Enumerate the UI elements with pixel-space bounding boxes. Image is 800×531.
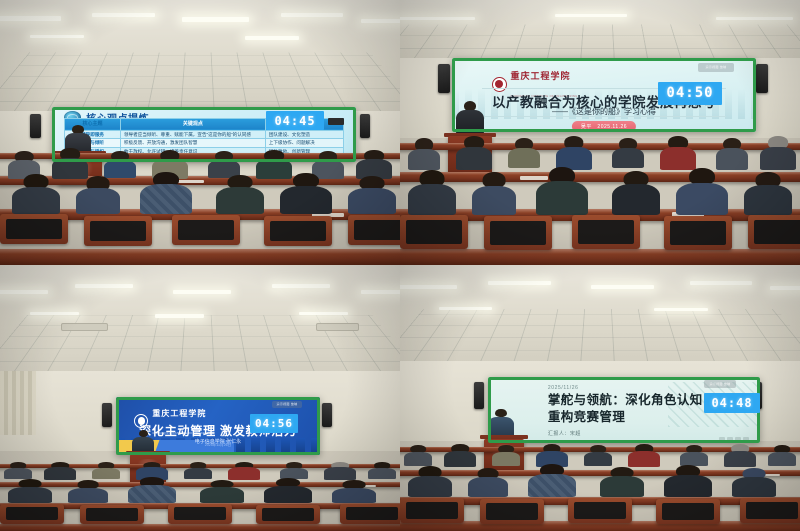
attendee <box>680 445 708 466</box>
attendee <box>760 136 796 169</box>
slide-view-chip: 演示视图 放映 <box>272 401 302 408</box>
ceiling-lamp <box>361 19 400 24</box>
desk-row <box>0 249 400 265</box>
attendee <box>612 138 644 168</box>
presenter <box>456 101 484 135</box>
attendee <box>508 138 540 168</box>
slide-date-badge: 吴平 2025.11.26 <box>572 121 636 132</box>
ceiling-lamp <box>30 35 84 38</box>
collage-panel-bottom-right: 2025/11/26 掌舵与领航：深化角色认知，重构竞赛管理 汇报人：宋超 演示… <box>400 265 800 531</box>
ceiling-vent <box>316 323 358 331</box>
logo-name: 重庆工程学院 <box>152 409 206 418</box>
attendee <box>676 168 728 214</box>
ceiling-lamp <box>92 13 155 17</box>
photo-collage: 核心观点提炼 核心主题 关键观点 适用场景 领导即服务 领导者应当倾听、尊重、赋… <box>0 0 800 531</box>
logo-name: 重庆工程学院 <box>511 71 571 81</box>
ceiling-lamp <box>555 14 627 17</box>
ceiling-lamp <box>30 312 79 315</box>
wall-speaker-icon <box>474 382 484 409</box>
ceiling-lamp <box>591 285 654 289</box>
countdown-timer: 04:45 <box>266 111 324 130</box>
audience <box>0 148 400 265</box>
attendee <box>4 462 32 478</box>
table-col-header: 关键观点 <box>120 118 265 130</box>
attendee <box>228 462 260 480</box>
attendee <box>612 171 660 215</box>
chair <box>84 216 152 246</box>
slide-title: 掌舵与领航：深化角色认知，重构竞赛管理 <box>548 392 722 425</box>
attendee <box>456 136 492 169</box>
attendee <box>68 480 108 503</box>
chair <box>0 214 68 244</box>
attendee <box>468 468 508 498</box>
attendee <box>408 138 440 170</box>
collage-panel-bottom-left: 重庆工程学院 CHONGQING INSTITUTE OF ENGINEERIN… <box>0 265 400 531</box>
ceiling-lamp <box>770 286 800 290</box>
logo-mark-icon <box>492 77 507 92</box>
chair <box>656 499 720 524</box>
attendee <box>628 444 660 467</box>
chair <box>748 215 800 249</box>
wall-speaker-icon <box>102 403 112 427</box>
desk-row <box>400 249 800 265</box>
chair <box>400 498 464 523</box>
audience <box>0 457 400 531</box>
attendee <box>724 444 756 467</box>
attendee <box>716 138 748 170</box>
attendee <box>768 445 796 466</box>
ceiling-lamp <box>299 312 348 315</box>
ceiling-vent <box>61 323 108 331</box>
wall-speaker-icon <box>438 64 450 93</box>
ceiling-lamp <box>0 290 48 294</box>
attendee <box>184 462 212 478</box>
chair <box>484 216 552 250</box>
chair <box>172 215 240 245</box>
collage-panel-top-right: 重庆工程学院 CHONGQING INSTITUTE OF ENGINEERIN… <box>400 0 800 265</box>
attendee <box>356 150 392 179</box>
attendee <box>324 462 356 480</box>
attendee <box>444 444 476 467</box>
ceiling-lamp <box>361 290 400 294</box>
chair <box>664 216 732 250</box>
attendee <box>200 480 244 504</box>
chair <box>80 505 144 524</box>
ceiling-lamp <box>400 17 475 21</box>
ceiling <box>400 265 800 366</box>
ceiling <box>400 0 800 64</box>
countdown-timer: 04:50 <box>658 82 722 105</box>
audience <box>400 435 800 531</box>
attendee <box>348 176 396 213</box>
attendee <box>584 445 612 466</box>
ceiling <box>0 265 400 377</box>
attendee <box>472 172 516 214</box>
chair <box>0 504 64 523</box>
attendee <box>216 175 264 213</box>
attendee <box>208 151 240 178</box>
ceiling-lamp <box>716 17 792 21</box>
attendee <box>104 151 136 178</box>
ceiling-lamp <box>155 314 204 317</box>
ceiling-lamp <box>173 290 231 294</box>
ceiling-tile-grid <box>400 309 800 366</box>
ceiling-lamp <box>488 281 551 284</box>
wall-speaker-icon <box>322 403 332 427</box>
table-row: 沟通与倾听 积极反馈、开放沟通，激发团队智慧 上下级协作、问题解决 <box>65 139 344 148</box>
ceiling-lamp <box>182 17 249 22</box>
ceiling-lamp <box>281 13 344 17</box>
attendee <box>600 467 644 498</box>
desk-row <box>400 172 800 181</box>
slide-view-chip: 演示视图 放映 <box>698 63 734 72</box>
audience <box>400 133 800 266</box>
attendee <box>732 468 776 498</box>
desk-row <box>0 524 400 531</box>
wall-speaker-icon <box>360 114 370 138</box>
slide-date: 2025/11/26 <box>548 385 579 391</box>
slide-subtitle: ——《这是你的船》学习心得 <box>470 106 738 117</box>
ceiling <box>0 0 400 117</box>
attendee <box>664 465 712 498</box>
ceiling-lamp <box>0 16 61 21</box>
attendee <box>264 478 312 503</box>
attendee <box>660 136 696 169</box>
chair <box>480 499 544 524</box>
chair <box>340 504 400 523</box>
chair <box>568 498 632 523</box>
chair <box>740 498 800 523</box>
attendee <box>408 466 452 498</box>
attendee <box>528 464 576 498</box>
attendee <box>44 462 76 480</box>
countdown-timer: 04:56 <box>250 414 298 433</box>
attendee <box>408 170 456 215</box>
slide-view-chip: 演示视图 放映 <box>704 380 736 388</box>
attendee <box>12 174 60 214</box>
attendee <box>536 167 588 215</box>
attendee <box>128 477 176 503</box>
chair <box>264 216 332 246</box>
presenter <box>488 409 514 438</box>
attendee <box>556 136 592 169</box>
attendee <box>492 445 520 466</box>
attendee <box>332 480 376 503</box>
slide-date: 2025年11月26日 <box>128 443 308 448</box>
ceiling-lamp <box>245 36 299 39</box>
ceiling-lamp <box>400 285 457 289</box>
chair <box>348 215 400 245</box>
ceiling-lamp <box>690 281 753 284</box>
ceiling-lamp <box>439 307 493 310</box>
wall-speaker-icon <box>30 114 40 138</box>
attendee <box>744 172 792 214</box>
attendee <box>140 172 192 214</box>
attendee <box>280 462 308 478</box>
table-row: 领导即服务 领导者应当倾听、尊重、赋能下属，宣告“这是你的船”的认同感 团队建设… <box>65 130 344 139</box>
ceiling-lamp <box>75 284 133 288</box>
collage-panel-top-left: 核心观点提炼 核心主题 关键观点 适用场景 领导即服务 领导者应当倾听、尊重、赋… <box>0 0 400 265</box>
chair <box>400 215 468 249</box>
attendee <box>8 479 52 504</box>
ceiling-lamp <box>272 284 330 288</box>
chair <box>168 504 232 523</box>
attendee <box>92 462 120 478</box>
countdown-timer: 04:48 <box>704 393 760 413</box>
chair <box>572 215 640 249</box>
wall-speaker-icon <box>756 64 768 93</box>
window-curtain <box>0 371 36 435</box>
attendee <box>404 445 432 466</box>
attendee <box>76 176 120 213</box>
slide-toolbar-bar <box>328 118 344 125</box>
attendee <box>368 462 396 478</box>
attendee <box>280 173 332 214</box>
presenter-torso <box>456 110 484 135</box>
chair <box>256 505 320 524</box>
